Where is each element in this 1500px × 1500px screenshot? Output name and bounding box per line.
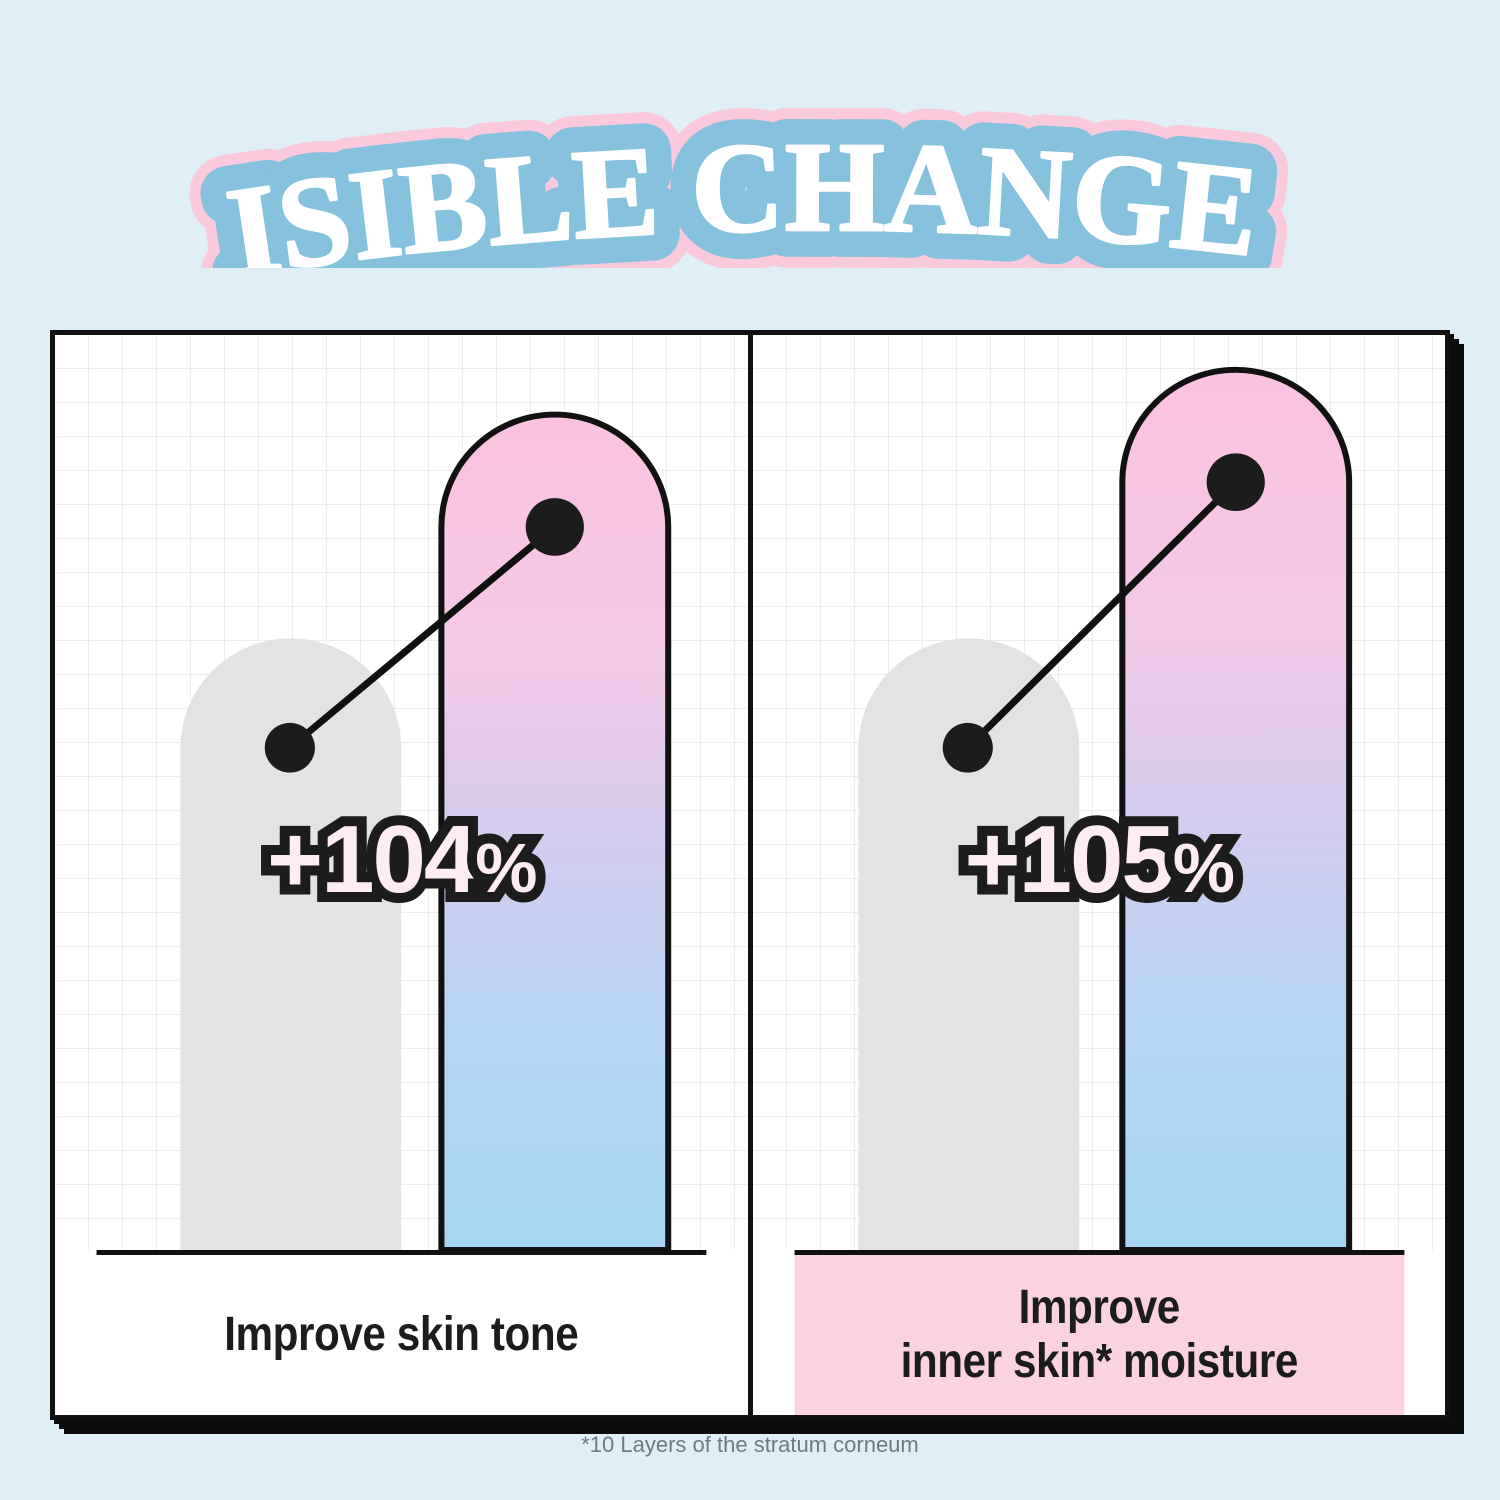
svg-text:VISIBLE CHANGES!: VISIBLE CHANGES! — [0, 78, 1265, 268]
title-text: VISIBLE CHANGES! — [0, 78, 1265, 268]
page-title: VISIBLE CHANGES! VISIBLE CHANGES! VISIBL… — [0, 78, 1500, 268]
panel-label-right: Improve inner skin* moisture — [794, 1250, 1403, 1415]
footnote: *10 Layers of the stratum corneum — [0, 1432, 1500, 1458]
chart-panel-skin-tone: +104% Improve skin tone — [55, 335, 748, 1415]
chart-card-stack: +104% Improve skin tone — [50, 330, 1450, 1420]
bar-graphic-left — [55, 335, 748, 1250]
chart-card: +104% Improve skin tone — [50, 330, 1450, 1420]
connector-dot-before-left — [265, 723, 315, 773]
bar-graphic-right — [753, 335, 1446, 1250]
panel-label-left: Improve skin tone — [97, 1250, 706, 1415]
title-sticker: VISIBLE CHANGES! VISIBLE CHANGES! VISIBL… — [0, 78, 1500, 268]
connector-dot-after-right — [1206, 453, 1264, 511]
connector-dot-before-right — [942, 723, 992, 773]
chart-panel-inner-moisture: +105% Improve inner skin* moisture — [748, 335, 1446, 1415]
plot-area-left: +104% — [55, 335, 748, 1250]
connector-dot-after-left — [526, 498, 584, 556]
plot-area-right: +105% — [753, 335, 1446, 1250]
